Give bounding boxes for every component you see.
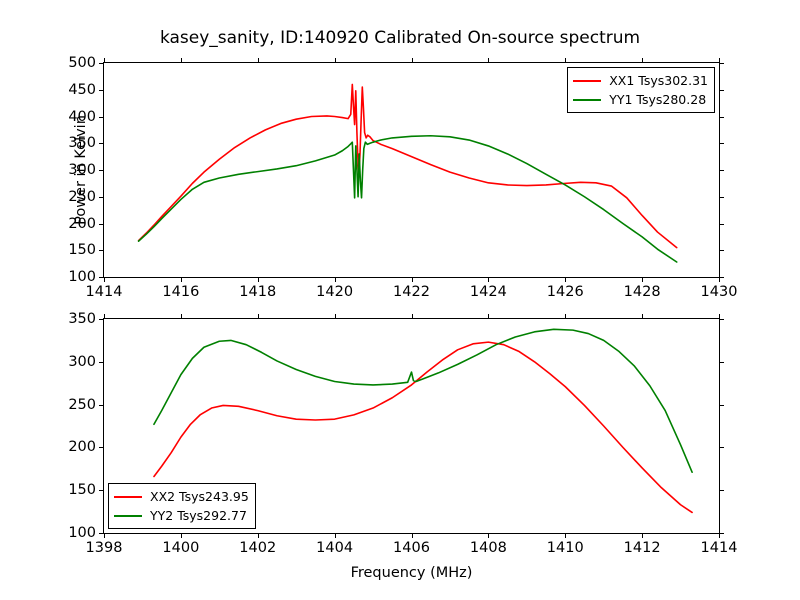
y-tick-label: 350	[68, 311, 96, 327]
x-tick-label: 1408	[470, 540, 507, 556]
y-tick-mark-right	[719, 63, 724, 64]
legend-label-yy1: YY1 Tsys280.28	[609, 92, 706, 107]
x-tick-mark-top	[412, 58, 413, 63]
y-tick-mark-right	[719, 143, 724, 144]
y-tick-mark	[99, 170, 104, 171]
y-tick-label: 100	[68, 525, 96, 541]
x-tick-mark-top	[181, 314, 182, 319]
x-tick-label: 1412	[624, 540, 661, 556]
legend-swatch-xx2	[114, 496, 142, 498]
x-tick-label: 1398	[86, 540, 123, 556]
figure-canvas: kasey_sanity, ID:140920 Calibrated On-so…	[0, 0, 800, 600]
y-tick-mark-right	[719, 197, 724, 198]
legend-swatch-yy1	[573, 99, 601, 101]
x-tick-label: 1422	[393, 284, 430, 300]
y-tick-mark-right	[719, 447, 724, 448]
top-panel-legend: XX1 Tsys302.31 YY1 Tsys280.28	[567, 67, 715, 113]
x-tick-label: 1404	[316, 540, 353, 556]
x-tick-label: 1410	[547, 540, 584, 556]
y-tick-label: 500	[68, 55, 96, 71]
bottom-panel-x-axis-label: Frequency (MHz)	[351, 565, 473, 581]
y-tick-label: 150	[68, 242, 96, 258]
x-tick-mark	[565, 533, 566, 538]
x-tick-mark-top	[258, 314, 259, 319]
x-tick-mark-top	[642, 58, 643, 63]
x-tick-mark-top	[565, 58, 566, 63]
x-tick-mark	[642, 277, 643, 282]
y-tick-mark-right	[719, 405, 724, 406]
x-tick-mark	[642, 533, 643, 538]
y-tick-label: 200	[68, 439, 96, 455]
x-tick-mark-top	[104, 314, 105, 319]
x-tick-mark-top	[719, 314, 720, 319]
x-tick-mark	[719, 533, 720, 538]
x-tick-label: 1414	[701, 540, 738, 556]
y-tick-mark	[99, 143, 104, 144]
x-tick-mark-top	[181, 58, 182, 63]
y-tick-mark	[99, 490, 104, 491]
x-tick-label: 1418	[239, 284, 276, 300]
y-tick-mark	[99, 224, 104, 225]
x-tick-mark	[488, 277, 489, 282]
y-tick-mark	[99, 63, 104, 64]
y-tick-mark-right	[719, 117, 724, 118]
x-tick-mark	[719, 277, 720, 282]
legend-entry: YY1 Tsys280.28	[573, 91, 708, 108]
x-tick-mark-top	[258, 58, 259, 63]
data-series-green	[154, 329, 692, 472]
y-tick-mark-right	[719, 170, 724, 171]
legend-swatch-yy2	[114, 515, 142, 517]
x-tick-mark	[335, 533, 336, 538]
x-tick-mark	[412, 533, 413, 538]
y-tick-label: 100	[68, 269, 96, 285]
legend-swatch-xx1	[573, 80, 601, 82]
x-tick-label: 1430	[701, 284, 738, 300]
x-tick-mark	[104, 533, 105, 538]
x-tick-label: 1416	[162, 284, 199, 300]
y-tick-mark	[99, 250, 104, 251]
y-tick-label: 400	[68, 109, 96, 125]
x-tick-mark-top	[488, 314, 489, 319]
x-tick-label: 1420	[316, 284, 353, 300]
legend-label-xx2: XX2 Tsys243.95	[150, 489, 249, 504]
x-tick-mark-top	[335, 58, 336, 63]
x-tick-label: 1428	[624, 284, 661, 300]
y-tick-label: 250	[68, 397, 96, 413]
x-tick-mark	[335, 277, 336, 282]
x-tick-mark	[488, 533, 489, 538]
y-tick-mark	[99, 405, 104, 406]
y-tick-label: 300	[68, 354, 96, 370]
y-tick-mark-right	[719, 490, 724, 491]
axes-bottom-panel: Frequency (MHz) XX2 Tsys243.95 YY2 Tsys2…	[103, 318, 720, 534]
y-tick-mark-right	[719, 90, 724, 91]
y-tick-mark	[99, 447, 104, 448]
axes-top-panel: Power in Kelvin XX1 Tsys302.31 YY1 Tsys2…	[103, 62, 720, 278]
y-tick-label: 350	[68, 135, 96, 151]
y-tick-label: 300	[68, 162, 96, 178]
legend-entry: XX1 Tsys302.31	[573, 72, 708, 89]
y-tick-mark-right	[719, 362, 724, 363]
x-tick-label: 1400	[162, 540, 199, 556]
y-tick-label: 250	[68, 189, 96, 205]
x-tick-mark-top	[412, 314, 413, 319]
x-tick-label: 1424	[470, 284, 507, 300]
x-tick-mark-top	[565, 314, 566, 319]
x-tick-label: 1406	[393, 540, 430, 556]
y-tick-mark	[99, 90, 104, 91]
y-tick-label: 200	[68, 216, 96, 232]
x-tick-label: 1426	[547, 284, 584, 300]
y-tick-mark	[99, 319, 104, 320]
figure-title: kasey_sanity, ID:140920 Calibrated On-so…	[0, 28, 800, 48]
x-tick-mark	[565, 277, 566, 282]
x-tick-mark	[181, 533, 182, 538]
y-tick-mark-right	[719, 250, 724, 251]
y-tick-mark-right	[719, 319, 724, 320]
y-tick-label: 450	[68, 82, 96, 98]
x-tick-mark	[104, 277, 105, 282]
x-tick-mark	[412, 277, 413, 282]
x-tick-mark	[258, 277, 259, 282]
y-tick-mark	[99, 197, 104, 198]
x-tick-label: 1402	[239, 540, 276, 556]
x-tick-mark-top	[104, 58, 105, 63]
legend-label-yy2: YY2 Tsys292.77	[150, 508, 247, 523]
y-tick-mark	[99, 362, 104, 363]
y-tick-mark	[99, 117, 104, 118]
y-tick-label: 150	[68, 482, 96, 498]
legend-entry: YY2 Tsys292.77	[114, 507, 249, 524]
y-tick-mark-right	[719, 224, 724, 225]
x-tick-mark	[258, 533, 259, 538]
legend-label-xx1: XX1 Tsys302.31	[609, 73, 708, 88]
legend-entry: XX2 Tsys243.95	[114, 488, 249, 505]
x-tick-mark-top	[335, 314, 336, 319]
bottom-panel-legend: XX2 Tsys243.95 YY2 Tsys292.77	[108, 483, 256, 529]
x-tick-mark-top	[488, 58, 489, 63]
x-tick-label: 1414	[86, 284, 123, 300]
x-tick-mark-top	[642, 314, 643, 319]
x-tick-mark	[181, 277, 182, 282]
x-tick-mark-top	[719, 58, 720, 63]
